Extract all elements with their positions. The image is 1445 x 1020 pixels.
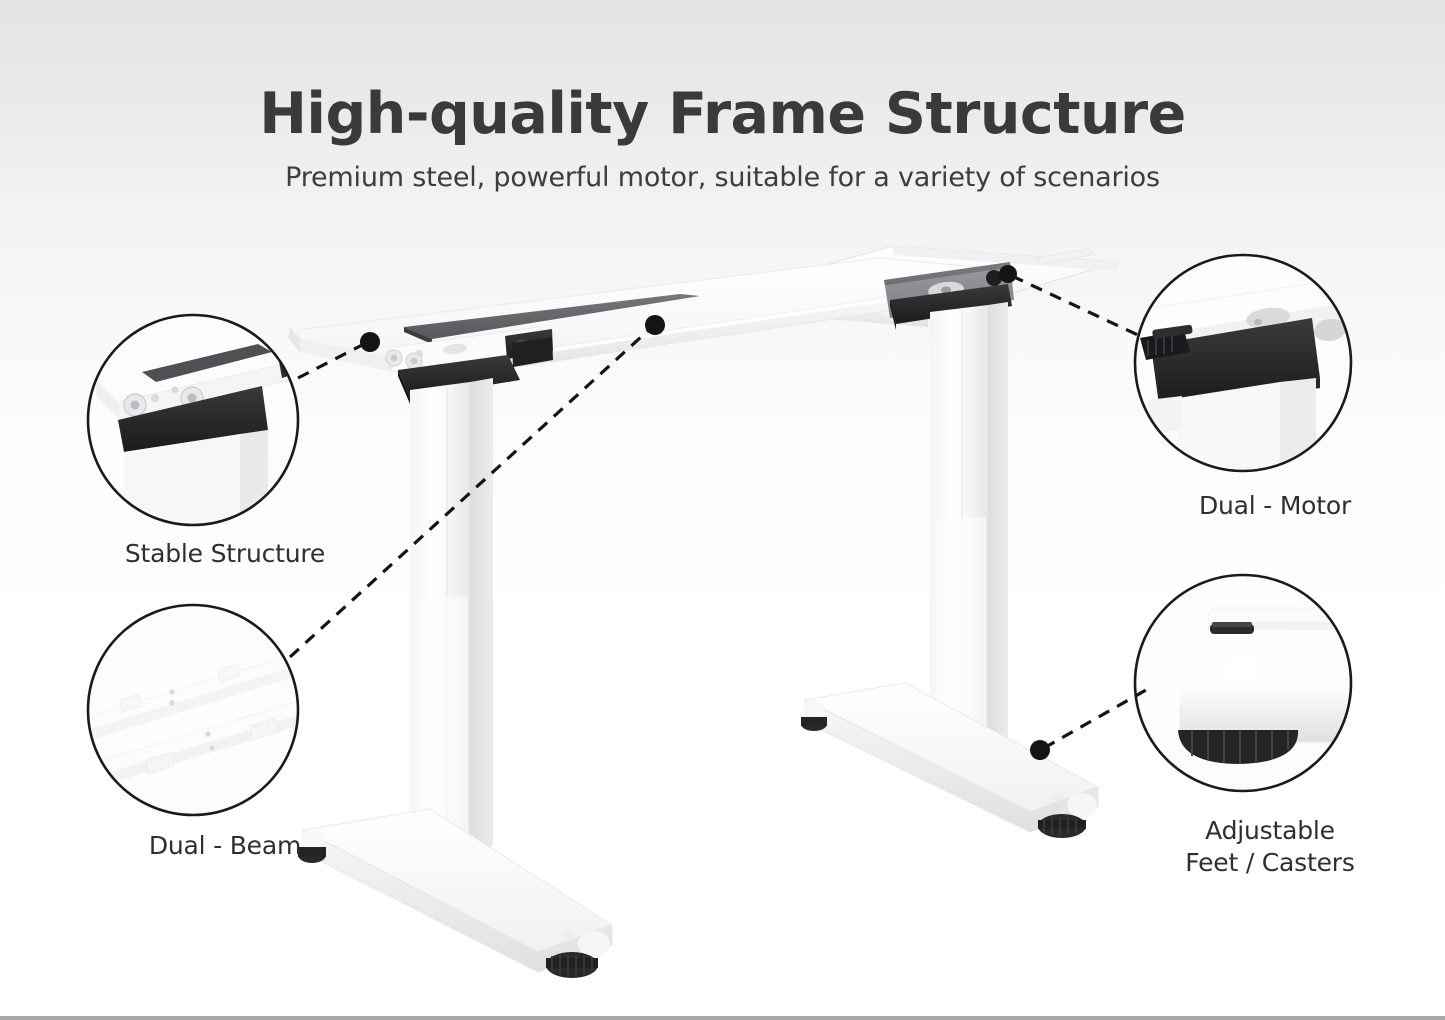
leader-line-adjustable-feet bbox=[1044, 690, 1146, 748]
anchor-dot-adjustable-feet bbox=[1030, 740, 1050, 760]
anchor-dot-stable-structure bbox=[360, 332, 380, 352]
left-leg bbox=[410, 378, 493, 855]
callout-label-stable-structure: Stable Structure bbox=[60, 538, 390, 570]
callout-label-dual-motor: Dual - Motor bbox=[1110, 490, 1440, 522]
right-leg bbox=[930, 302, 1008, 765]
right-foot-glide-near bbox=[1038, 814, 1086, 838]
callout-circle-adjustable-feet bbox=[1135, 575, 1420, 791]
leader-line-dual-motor bbox=[1012, 276, 1140, 336]
callout-circle-dual-motor bbox=[1128, 255, 1364, 480]
desk-frame-main bbox=[288, 246, 1118, 978]
callout-circle-dual-beam bbox=[84, 605, 304, 815]
anchor-dot-dual-motor bbox=[999, 265, 1017, 283]
callout-label-adjustable-feet: Adjustable Feet / Casters bbox=[1100, 815, 1440, 879]
callout-label-dual-beam: Dual - Beam bbox=[60, 830, 390, 862]
infographic-page: High-quality Frame Structure Premium ste… bbox=[0, 0, 1445, 1020]
anchor-dot-dual-beam bbox=[645, 315, 665, 335]
callout-circle-stable-structure bbox=[88, 315, 300, 540]
left-foot-glide-near bbox=[546, 952, 598, 978]
right-foot-glide-far bbox=[801, 717, 827, 731]
